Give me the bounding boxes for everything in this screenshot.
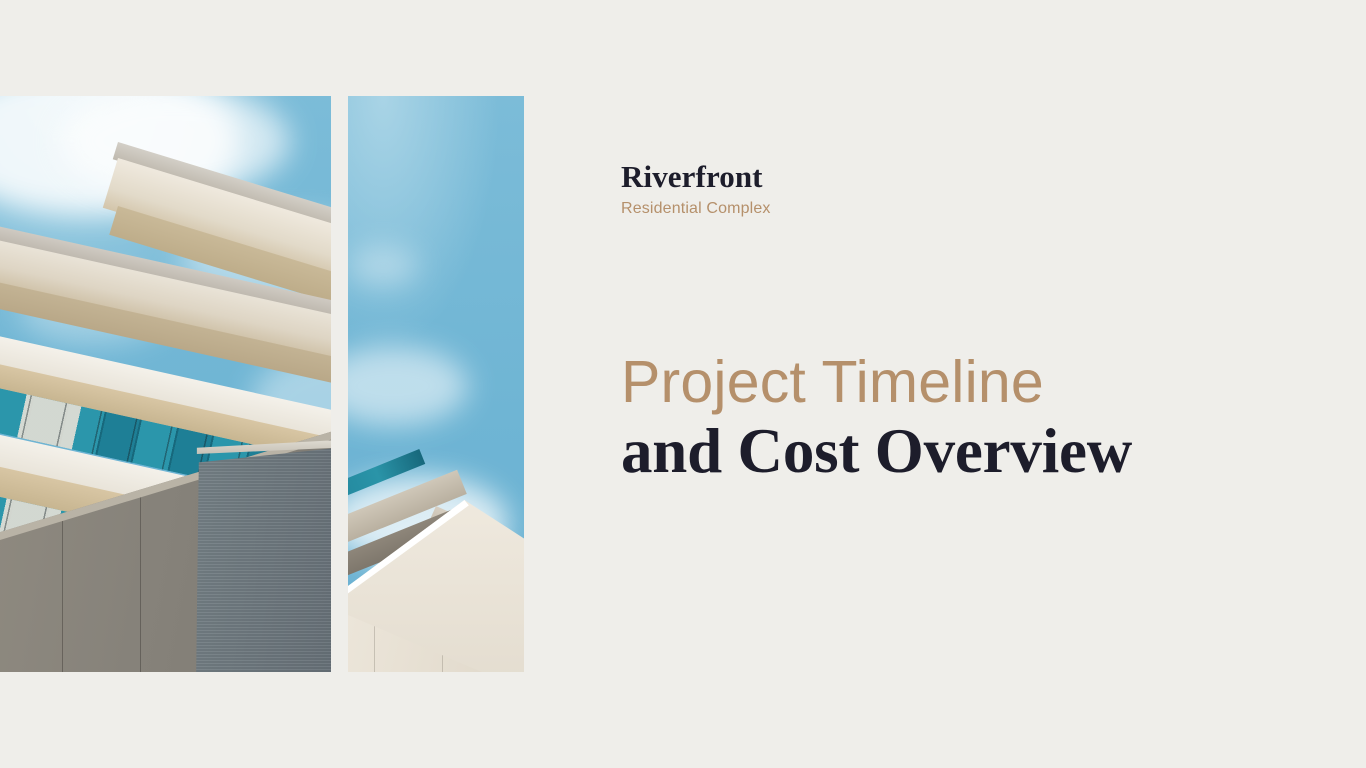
photo-group xyxy=(0,96,524,672)
project-subtitle: Residential Complex xyxy=(621,199,771,218)
presentation-slide: Riverfront Residential Complex Project T… xyxy=(0,0,1366,768)
headline-line-2: and Cost Overview xyxy=(621,418,1281,485)
textured-grey-panel xyxy=(196,448,331,672)
building-sky-photo xyxy=(348,96,524,672)
headline-line-1: Project Timeline xyxy=(621,352,1281,414)
text-column: Riverfront Residential Complex Project T… xyxy=(621,0,1321,768)
building-facade-photo xyxy=(0,96,331,672)
project-name: Riverfront xyxy=(621,160,771,193)
slide-headline-block: Project Timeline and Cost Overview xyxy=(621,352,1281,485)
cloud-shape xyxy=(348,246,418,286)
project-identity-block: Riverfront Residential Complex xyxy=(621,160,771,219)
